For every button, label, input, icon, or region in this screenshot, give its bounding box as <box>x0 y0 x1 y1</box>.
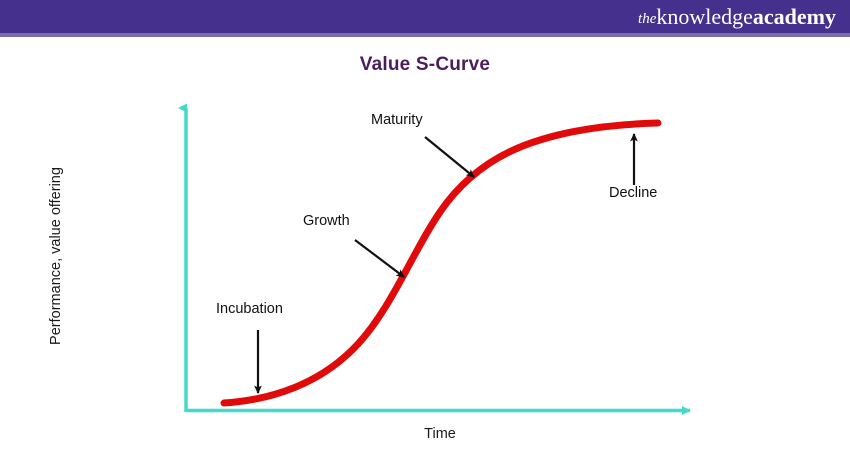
maturity-arrow <box>425 137 474 177</box>
annotation-decline: Decline <box>609 185 657 201</box>
annotation-maturity: Maturity <box>371 112 423 128</box>
y-axis-label: Performance, value offering <box>48 126 64 386</box>
x-axis-label: Time <box>380 426 500 442</box>
annotation-incubation: Incubation <box>216 301 283 317</box>
chart-area: Performance, value offering Time Incubat… <box>0 0 850 450</box>
value-s-curve-infographic: theknowledgeacademy Value S-Curve <box>0 0 850 450</box>
s-curve-path <box>224 123 658 403</box>
chart-svg <box>0 0 850 450</box>
annotation-growth: Growth <box>303 213 350 229</box>
growth-arrow <box>355 240 404 277</box>
